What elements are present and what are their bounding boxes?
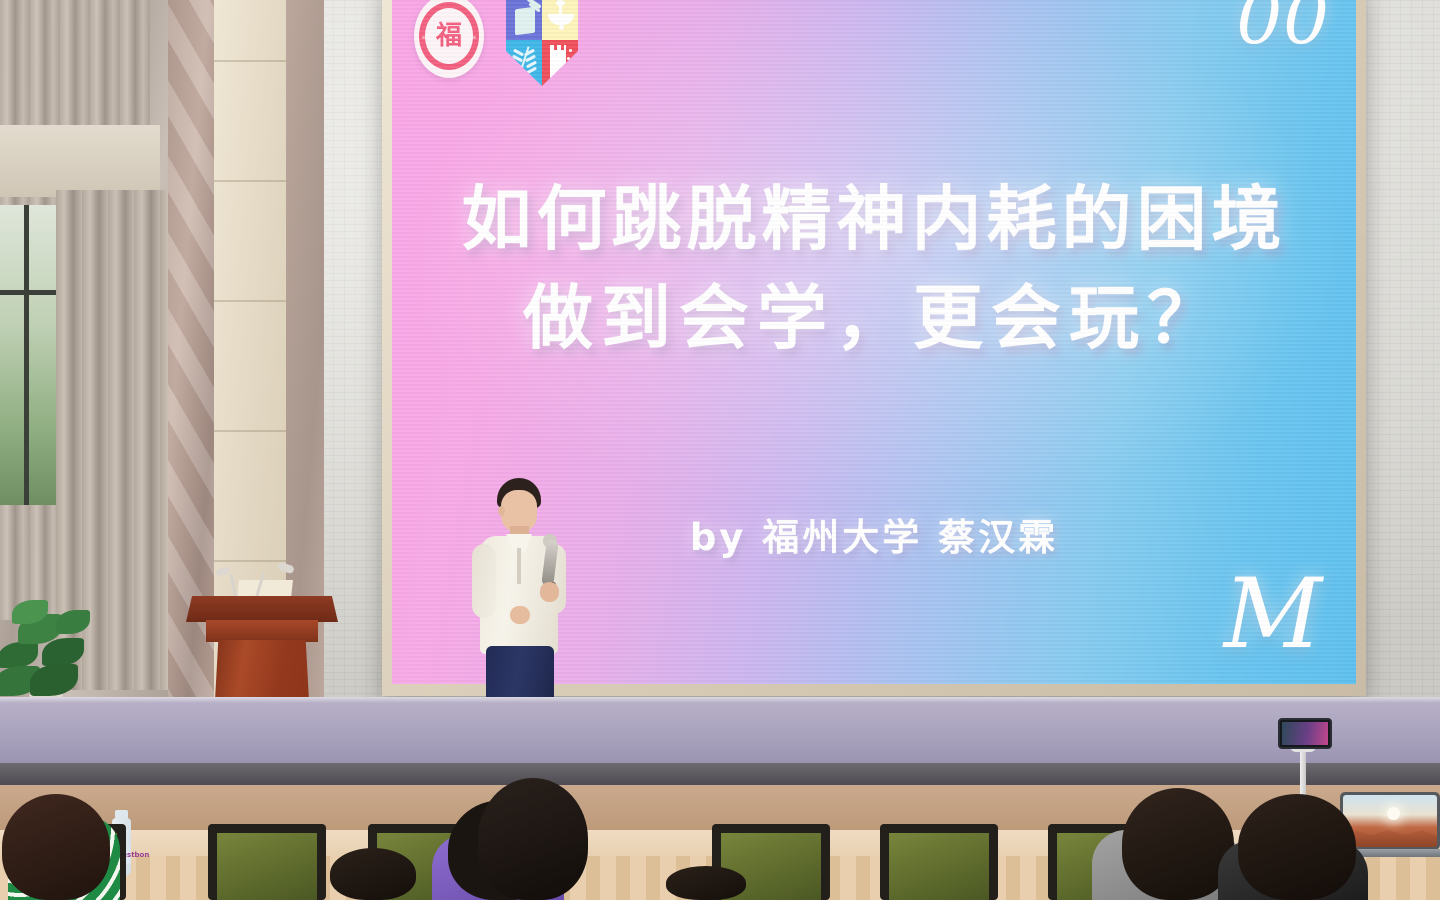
stage-platform xyxy=(0,697,1440,767)
slide-page-number: 00 xyxy=(1236,0,1330,54)
audience-head xyxy=(1238,794,1356,900)
audience-head xyxy=(478,778,588,900)
podium-top xyxy=(186,596,338,622)
university-shield-logo xyxy=(506,0,578,86)
slide-title-line1: 如何跳脱精神内耗的困境 xyxy=(392,170,1356,269)
speaker-left-hand xyxy=(510,606,530,624)
slide-title: 如何跳脱精神内耗的困境 做到会学，更会玩？ xyxy=(392,170,1356,369)
audience-head xyxy=(330,848,416,900)
left-lintel xyxy=(0,125,160,197)
stage-front-edge xyxy=(0,763,1440,785)
phone-screen xyxy=(1282,722,1328,745)
speaker-ear xyxy=(498,506,505,516)
audience-head xyxy=(666,866,746,900)
stage-top-highlight xyxy=(0,697,1440,703)
laptop-display xyxy=(1343,795,1437,847)
shield-quadrant-tower-icon xyxy=(542,40,578,86)
window-mullion-vertical xyxy=(24,205,29,505)
audience-chair[interactable] xyxy=(208,824,326,900)
slide-title-line2: 做到会学，更会玩？ xyxy=(392,269,1356,368)
slide-logo-group: 福 xyxy=(414,0,578,86)
speaker-right-hand xyxy=(540,582,559,602)
speaker-left-arm xyxy=(472,544,496,618)
fu-seal-glyph: 福 xyxy=(436,23,462,49)
speaker-shirt-placket xyxy=(517,548,521,584)
shield-quadrant-lamp-icon xyxy=(542,0,578,40)
audience-chair[interactable] xyxy=(880,824,998,900)
bottle-cap xyxy=(115,810,128,819)
audience-head xyxy=(2,794,110,900)
screenshot-root: 福 xyxy=(0,0,1440,900)
shield-quadrant-fern-icon xyxy=(506,40,542,86)
podium-papers xyxy=(237,580,293,598)
shield-quadrant-book-icon xyxy=(506,0,542,40)
phone-on-tripod[interactable] xyxy=(1278,718,1332,749)
podium-neck xyxy=(206,620,318,642)
laptop-wallpaper-sun xyxy=(1387,807,1400,820)
laptop-wallpaper-canyon xyxy=(1343,827,1437,847)
slide-script-mark: M xyxy=(1224,566,1322,662)
fu-seal-logo: 福 xyxy=(414,0,484,78)
